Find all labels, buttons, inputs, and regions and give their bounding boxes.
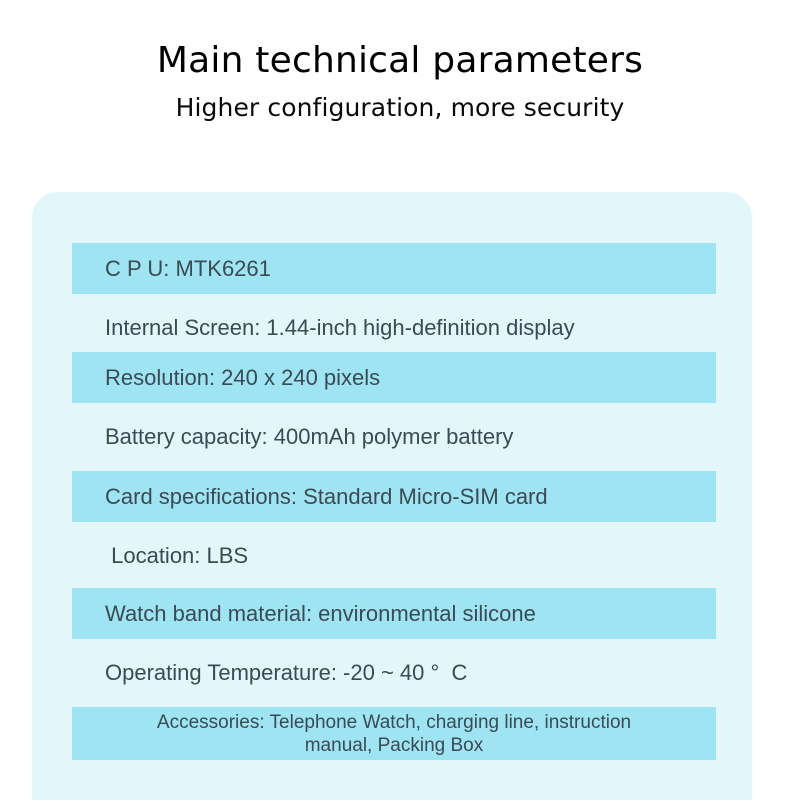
spec-row-text: Resolution: 240 x 240 pixels xyxy=(105,365,380,391)
spec-row-text: Accessories: Telephone Watch, charging l… xyxy=(157,711,631,757)
spec-sheet-page: Main technical parameters Higher configu… xyxy=(0,0,800,800)
spec-row-text: C P U: MTK6261 xyxy=(105,256,271,282)
spec-row: Battery capacity: 400mAh polymer battery xyxy=(72,411,716,462)
spec-row: Card specifications: Standard Micro-SIM … xyxy=(72,471,716,522)
spec-row: Location: LBS xyxy=(72,530,716,581)
spec-row-text: Location: LBS xyxy=(105,543,248,569)
heading-block: Main technical parameters Higher configu… xyxy=(0,0,800,124)
spec-row-text: Internal Screen: 1.44-inch high-definiti… xyxy=(105,315,575,341)
spec-row: Watch band material: environmental silic… xyxy=(72,588,716,639)
spec-row: Resolution: 240 x 240 pixels xyxy=(72,352,716,403)
spec-row: Accessories: Telephone Watch, charging l… xyxy=(72,707,716,760)
spec-row: Internal Screen: 1.44-inch high-definiti… xyxy=(72,302,716,353)
page-title: Main technical parameters xyxy=(0,0,800,84)
spec-row-text: Operating Temperature: -20 ~ 40 ° C xyxy=(105,660,467,686)
page-subtitle: Higher configuration, more security xyxy=(0,84,800,124)
spec-row: C P U: MTK6261 xyxy=(72,243,716,294)
spec-row: Operating Temperature: -20 ~ 40 ° C xyxy=(72,647,716,698)
spec-row-text: Card specifications: Standard Micro-SIM … xyxy=(105,484,548,510)
spec-row-text: Battery capacity: 400mAh polymer battery xyxy=(105,424,513,450)
spec-row-text: Watch band material: environmental silic… xyxy=(105,601,536,627)
specifications-card: C P U: MTK6261 Internal Screen: 1.44-inc… xyxy=(32,192,752,800)
